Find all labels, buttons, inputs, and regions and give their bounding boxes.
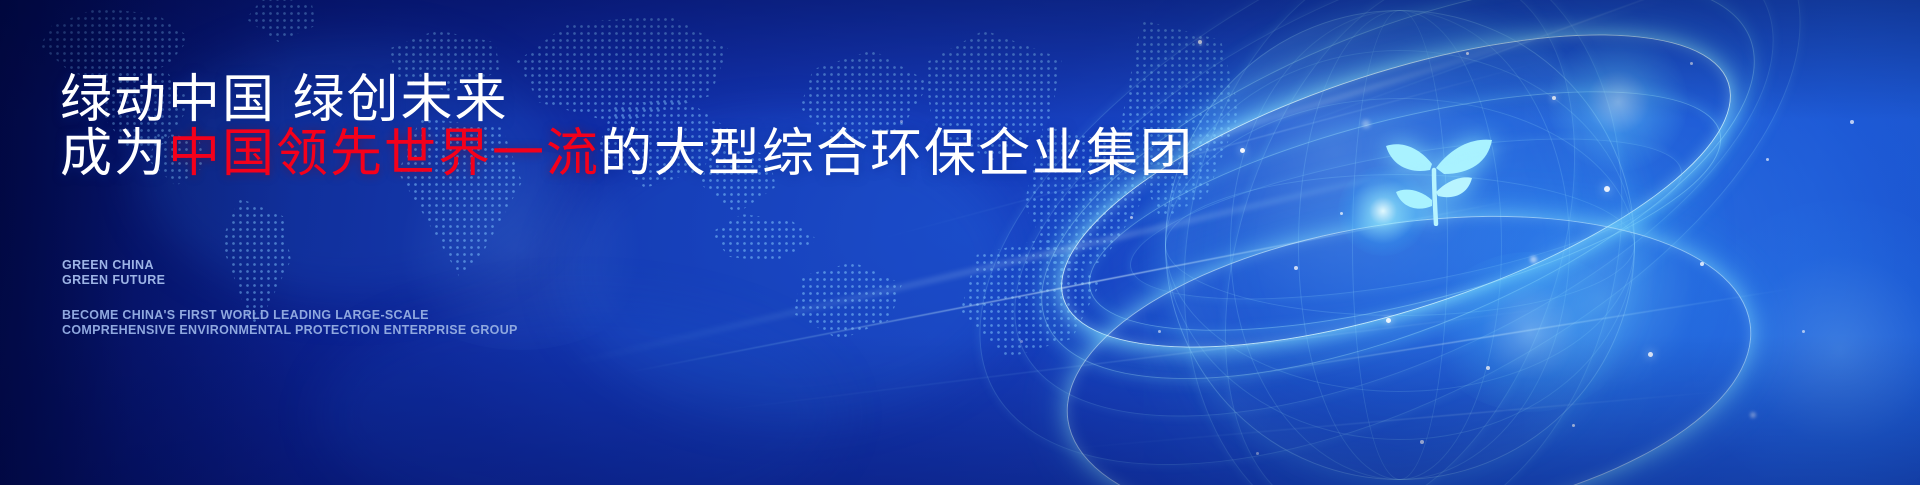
tagline-line-1: BECOME CHINA'S FIRST WORLD LEADING LARGE… [62,308,518,323]
orbit-ring-vertical [1161,0,1638,485]
light-streak [1257,0,1784,141]
particle [1700,262,1704,266]
globe-graphic [1070,0,1730,485]
particle [1572,424,1575,427]
particle [1340,212,1343,215]
sprout-icon [1372,108,1500,226]
particle [1198,40,1202,44]
globe-meridian [1230,10,1570,480]
globe-rim [1165,10,1635,480]
slogan-line-2: GREEN FUTURE [62,273,165,288]
headline-prefix: 成为 [60,125,168,183]
particle [1294,266,1298,270]
banner-copy: 绿动中国 绿创未来 成为中国领先世界一流的大型综合环保企业集团 GREEN CH… [60,0,1080,485]
particle [1530,256,1537,263]
orbit-ring [1046,175,1771,485]
hero-banner: 绿动中国 绿创未来 成为中国领先世界一流的大型综合环保企业集团 GREEN CH… [0,0,1920,485]
headline-line-1: 绿动中国 绿创未来 [60,74,508,126]
particle [1750,412,1756,418]
orbit-ring [1119,106,1693,331]
particle [1552,96,1556,100]
particle [1802,330,1805,333]
background-glow [1690,200,1920,485]
headline-line-2: 成为中国领先世界一流的大型综合环保企业集团 [60,128,1194,180]
particle [1486,366,1490,370]
headline-highlight: 中国领先世界一流 [168,125,600,183]
particle [1648,352,1653,357]
particle [1604,186,1610,192]
particle [1420,440,1424,444]
headline-suffix: 的大型综合环保企业集团 [600,125,1194,183]
particle [1240,148,1245,153]
globe-meridian [1352,10,1448,480]
orbit-ring [1026,0,1765,412]
particle [1362,120,1370,128]
globe-parallel [1165,50,1635,440]
orbit-flare [1338,166,1428,256]
particle [1386,318,1391,323]
particle [1766,158,1769,161]
particle [1158,330,1161,333]
globe-parallel [1165,174,1635,316]
background-glow [1440,140,1760,460]
globe-meridian [1298,10,1502,480]
particle [1256,452,1259,455]
slogan-english: GREEN CHINA GREEN FUTURE [62,258,165,288]
orbit-flare [1548,32,1688,172]
orbit-ring [989,0,1806,461]
particle [1850,120,1854,124]
particle [1466,52,1469,55]
orbit-ring [1067,42,1743,380]
tagline-english: BECOME CHINA'S FIRST WORLD LEADING LARGE… [62,308,518,338]
light-streak [1184,288,1797,386]
globe-core [1165,10,1635,480]
slogan-line-1: GREEN CHINA [62,258,165,273]
orbit-ring-vertical [1130,0,1675,485]
tagline-line-2: COMPREHENSIVE ENVIRONMENTAL PROTECTION E… [62,323,518,338]
light-streak [1051,390,1728,450]
globe-parallel [1165,98,1635,392]
particle [1130,216,1133,219]
orbit-flare [1430,252,1630,412]
particle [1690,62,1693,65]
